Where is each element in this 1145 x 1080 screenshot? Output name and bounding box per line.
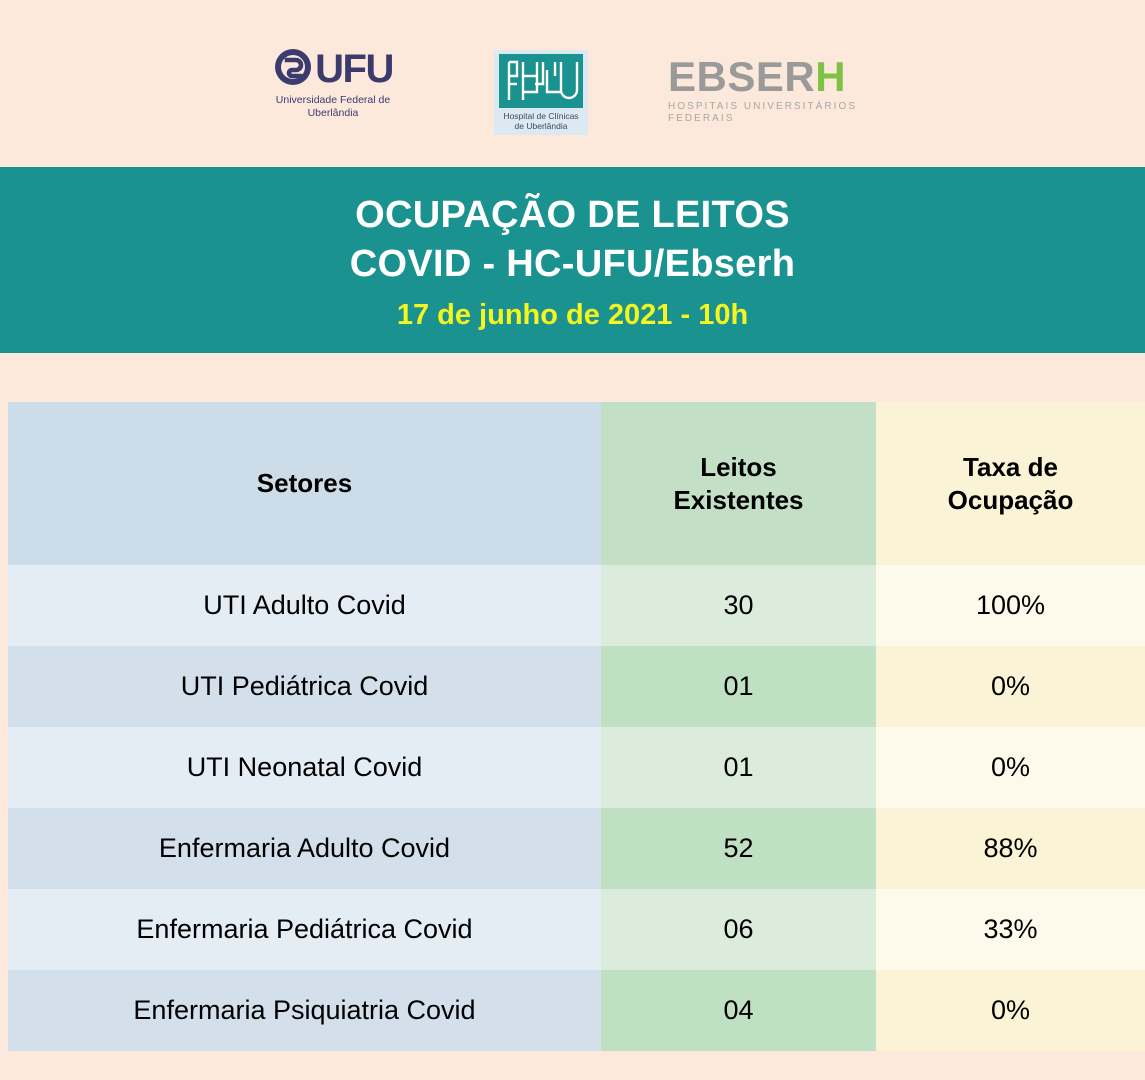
cell-taxa-ocupacao: 100% (876, 565, 1145, 646)
beds-occupancy-table: Setores Leitos Existentes Taxa de Ocupaç… (8, 402, 1145, 1051)
hc-subtitle-line2: de Uberlândia (499, 121, 583, 131)
column-header-leitos-line1: Leitos (611, 451, 866, 484)
cell-setor: Enfermaria Pediátrica Covid (8, 889, 601, 970)
cell-taxa-ocupacao: 0% (876, 646, 1145, 727)
column-header-setores: Setores (8, 402, 601, 565)
title-banner: OCUPAÇÃO DE LEITOS COVID - HC-UFU/Ebserh… (0, 167, 1145, 353)
cell-leitos-existentes: 04 (601, 970, 876, 1051)
column-header-leitos-line2: Existentes (611, 484, 866, 517)
cell-leitos-existentes: 01 (601, 646, 876, 727)
cell-taxa-ocupacao: 88% (876, 808, 1145, 889)
ufu-subtitle-line2: Uberlândia (258, 107, 408, 120)
table-header-row: Setores Leitos Existentes Taxa de Ocupaç… (8, 402, 1145, 565)
ebserh-wordmark: EBSERH (668, 55, 903, 99)
cell-setor: UTI Pediátrica Covid (8, 646, 601, 727)
column-header-taxa-ocupacao: Taxa de Ocupação (876, 402, 1145, 565)
logo-bar: UFU Universidade Federal de Uberlândia (0, 0, 1145, 167)
report-date: 17 de junho de 2021 - 10h (397, 296, 748, 334)
hc-subtitle-line1: Hospital de Clínicas (499, 111, 583, 121)
cell-setor: Enfermaria Adulto Covid (8, 808, 601, 889)
table-row: Enfermaria Adulto Covid5288% (8, 808, 1145, 889)
cell-leitos-existentes: 52 (601, 808, 876, 889)
ebserh-subtitle: HOSPITAIS UNIVERSITÁRIOS FEDERAIS (668, 101, 903, 125)
ufu-subtitle: Universidade Federal de Uberlândia (258, 94, 408, 119)
ufu-logo: UFU Universidade Federal de Uberlândia (258, 48, 408, 119)
cell-leitos-existentes: 06 (601, 889, 876, 970)
table-row: UTI Neonatal Covid010% (8, 727, 1145, 808)
page-title-line2: COVID - HC-UFU/Ebserh (350, 240, 795, 289)
column-header-leitos-existentes: Leitos Existentes (601, 402, 876, 565)
column-header-taxa-line1: Taxa de (886, 451, 1135, 484)
ufu-logo-top: UFU (258, 48, 408, 90)
cell-setor: Enfermaria Psiquiatria Covid (8, 970, 601, 1051)
hc-logo: Hospital de Clínicas de Uberlândia (494, 50, 588, 135)
cell-taxa-ocupacao: 0% (876, 970, 1145, 1051)
cell-setor: UTI Neonatal Covid (8, 727, 601, 808)
ufu-wordmark: UFU (315, 49, 393, 89)
banner-table-spacer (0, 353, 1145, 402)
cell-taxa-ocupacao: 0% (876, 727, 1145, 808)
ebserh-logo: EBSERH HOSPITAIS UNIVERSITÁRIOS FEDERAIS (668, 55, 903, 125)
ebserh-wordmark-gray: EBSER (668, 53, 815, 100)
page-title: OCUPAÇÃO DE LEITOS COVID - HC-UFU/Ebserh (350, 191, 795, 289)
table-head: Setores Leitos Existentes Taxa de Ocupaç… (8, 402, 1145, 565)
beds-table-container: Setores Leitos Existentes Taxa de Ocupaç… (8, 402, 1145, 1051)
table-row: UTI Adulto Covid30100% (8, 565, 1145, 646)
ufu-subtitle-line1: Universidade Federal de (258, 94, 408, 107)
table-row: UTI Pediátrica Covid010% (8, 646, 1145, 727)
table-row: Enfermaria Pediátrica Covid0633% (8, 889, 1145, 970)
cell-taxa-ocupacao: 33% (876, 889, 1145, 970)
table-body: UTI Adulto Covid30100%UTI Pediátrica Cov… (8, 565, 1145, 1051)
hc-subtitle: Hospital de Clínicas de Uberlândia (499, 111, 583, 131)
table-row: Enfermaria Psiquiatria Covid040% (8, 970, 1145, 1051)
cell-leitos-existentes: 30 (601, 565, 876, 646)
column-header-taxa-line2: Ocupação (886, 484, 1135, 517)
ufu-emblem-icon (273, 47, 313, 92)
ebserh-wordmark-green: H (815, 53, 846, 100)
cell-leitos-existentes: 01 (601, 727, 876, 808)
hc-monogram-icon (499, 54, 583, 108)
page-title-line1: OCUPAÇÃO DE LEITOS (350, 191, 795, 240)
cell-setor: UTI Adulto Covid (8, 565, 601, 646)
